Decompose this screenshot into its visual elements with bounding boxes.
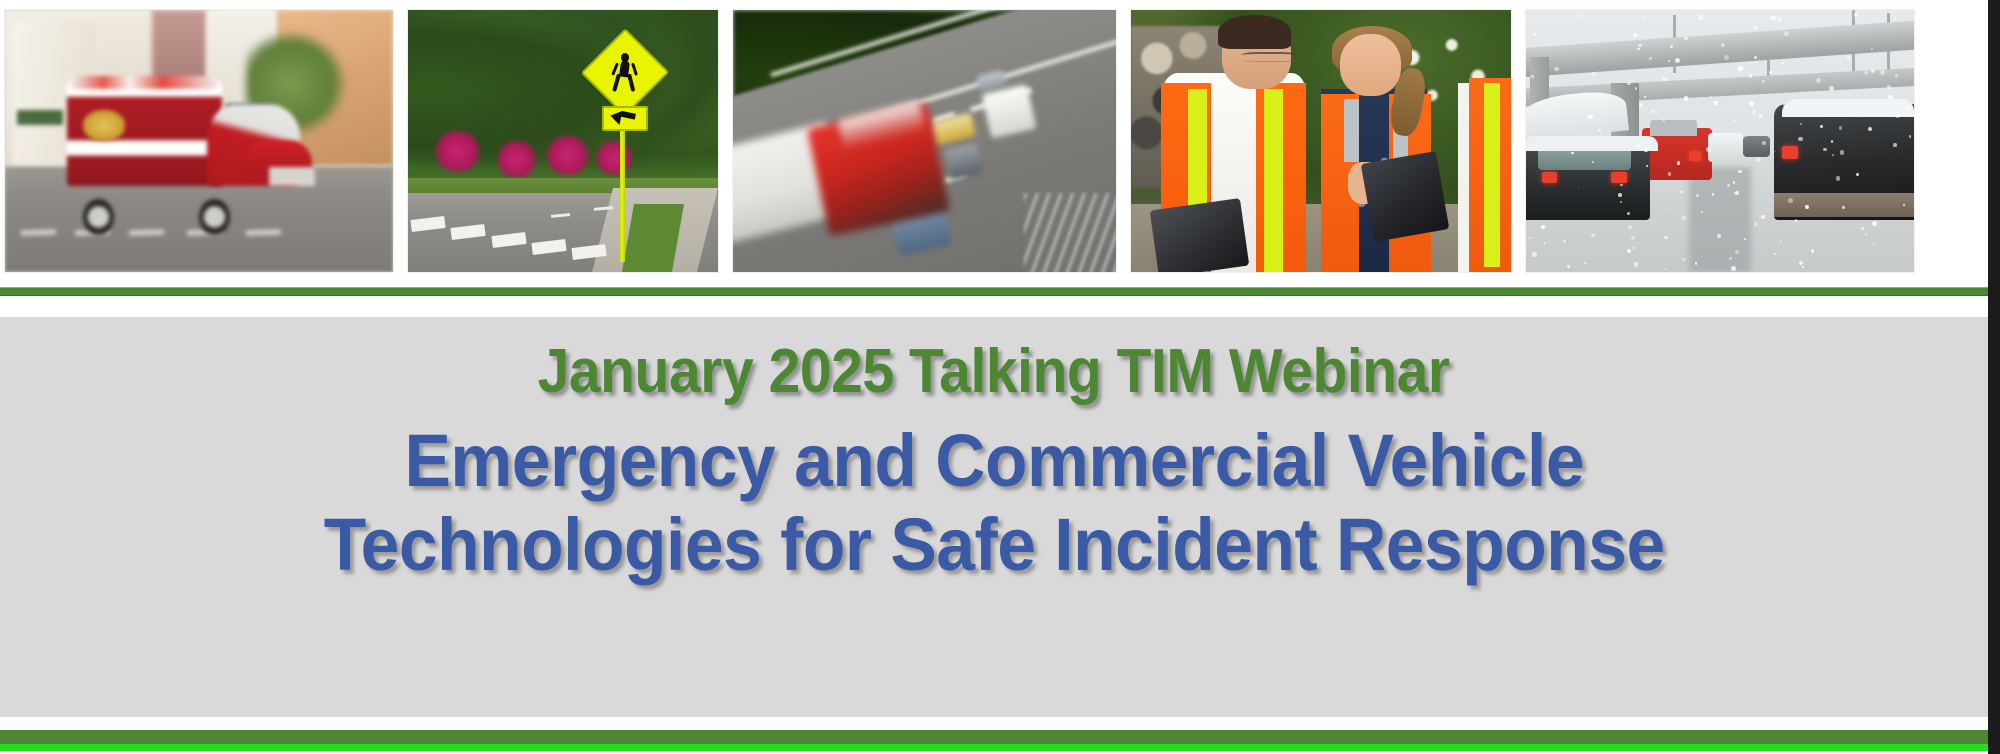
pedestrian-crossing-scene [408, 10, 718, 272]
highway-traffic-scene [733, 10, 1116, 272]
flowering-shrub [495, 141, 538, 178]
responder-man-hair [1218, 15, 1290, 49]
header-photo-strip [5, 10, 1988, 272]
flowering-shrub [544, 136, 591, 175]
vehicle-white-truck [981, 84, 1036, 138]
vest-reflective-stripe [1484, 83, 1499, 266]
webinar-title-slide: January 2025 Talking TIM Webinar Emergen… [0, 0, 2000, 754]
green-divider-bottom [0, 730, 1988, 744]
guardrail [1024, 193, 1116, 272]
page-right-edge [1988, 0, 2000, 754]
responder-woman-head [1340, 34, 1401, 97]
pedestrian-leg [627, 74, 635, 92]
ambulance-emblem [83, 110, 126, 141]
snow-congestion-scene [1526, 10, 1914, 272]
ambulance-lightbar [71, 76, 218, 89]
tire-tracks [1689, 167, 1751, 272]
photo-pedestrian-sign [408, 10, 718, 272]
green-divider-top [0, 287, 1988, 296]
tablet-device [1150, 198, 1250, 272]
vest-reflective-stripe [1344, 99, 1359, 162]
photo-highway-traffic [733, 10, 1116, 272]
diagonal-arrow-plaque [602, 106, 649, 131]
vehicle-queued-car [1743, 136, 1770, 157]
bright-green-divider-bottom [0, 744, 1988, 751]
storefront-awning-green [17, 110, 64, 126]
brake-light [1542, 172, 1558, 182]
brake-light [1611, 172, 1627, 182]
webinar-kicker: January 2025 Talking TIM Webinar [538, 339, 1450, 405]
page-title: Emergency and Commercial Vehicle Technol… [324, 419, 1665, 588]
photo-ambulance [5, 10, 393, 272]
ambulance-grille [269, 167, 316, 185]
ambulance-front-wheel [199, 199, 230, 236]
vehicle-white-car [1708, 133, 1743, 162]
ambulance-rear-wheel [83, 199, 114, 236]
vehicle-red-pickup-cab [1650, 120, 1697, 136]
tablet-device [1360, 151, 1448, 242]
overpass-pier [1530, 57, 1549, 104]
flowering-shrub [594, 141, 634, 175]
title-panel: January 2025 Talking TIM Webinar Emergen… [0, 317, 1988, 717]
photo-responders [1131, 10, 1511, 272]
pedestrian-arm [631, 63, 638, 77]
brake-light [1689, 151, 1701, 160]
eyeglasses-icon [1241, 52, 1298, 62]
brake-light [1782, 146, 1798, 159]
page-title-line-2: Technologies for Safe Incident Response [324, 503, 1665, 587]
pedestrian-leg [612, 74, 621, 92]
responders-scene [1131, 10, 1511, 272]
pedestrian-symbol-icon [611, 53, 639, 92]
vest-reflective-stripe [1264, 89, 1283, 272]
photo-snow-congestion [1526, 10, 1914, 272]
ambulance-scene [5, 10, 393, 272]
page-title-line-1: Emergency and Commercial Vehicle [324, 419, 1665, 503]
